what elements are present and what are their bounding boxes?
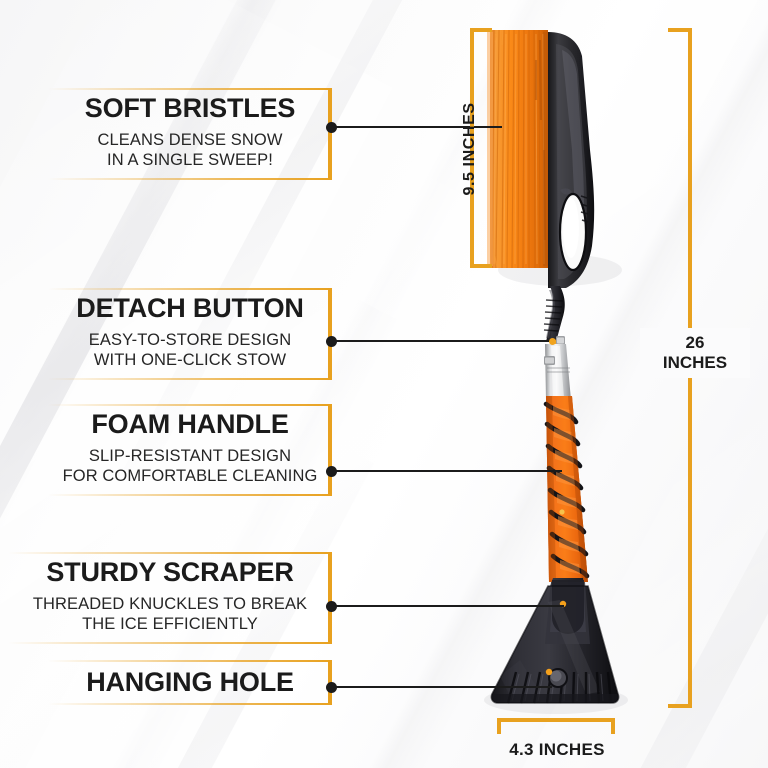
callout-frame-top	[48, 88, 332, 90]
callout-frame-bottom	[48, 378, 332, 380]
callout-subtitle-line: EASY-TO-STORE DESIGN	[62, 330, 318, 350]
callout-title: FOAM HANDLE	[62, 410, 318, 439]
callout-subtitle-line: IN A SINGLE SWEEP!	[62, 150, 318, 170]
callout-frame-bottom	[48, 178, 332, 180]
callout-subtitle-line: THE ICE EFFICIENTLY	[22, 614, 318, 634]
callout-title: HANGING HOLE	[62, 668, 318, 697]
callout-frame-bottom	[48, 703, 332, 705]
dimension-label-total-length-value: 26	[640, 333, 750, 353]
leader-line-detach-button	[334, 340, 550, 342]
background-sheen	[430, 395, 768, 768]
dimension-label-total-length-unit: INCHES	[640, 353, 750, 373]
callout-subtitle-line: WITH ONE-CLICK STOW	[62, 350, 318, 370]
leader-tip-detach-button	[549, 338, 556, 345]
leader-line-hanging-hole	[334, 686, 552, 688]
callout-frame-top	[48, 404, 332, 406]
callout-title: STURDY SCRAPER	[22, 558, 318, 587]
callout-subtitle-line: CLEANS DENSE SNOW	[62, 130, 318, 150]
callout-subtitle-line: FOR COMFORTABLE CLEANING	[62, 466, 318, 486]
callout-frame-top	[48, 660, 332, 662]
callout-hanging-hole: HANGING HOLE	[48, 660, 332, 705]
dimension-label-total-length: 26 INCHES	[640, 328, 750, 378]
callout-frame-right	[328, 88, 332, 180]
callout-subtitle-line: THREADED KNUCKLES TO BREAK	[22, 594, 318, 614]
callout-subtitle: THREADED KNUCKLES TO BREAK THE ICE EFFIC…	[22, 594, 318, 634]
callout-sturdy-scraper: STURDY SCRAPER THREADED KNUCKLES TO BREA…	[8, 552, 332, 644]
dimension-label-brush-head: 9.5 INCHES	[461, 84, 479, 214]
callout-subtitle-line: SLIP-RESISTANT DESIGN	[62, 446, 318, 466]
background-streak	[514, 335, 768, 768]
callout-detach-button: DETACH BUTTON EASY-TO-STORE DESIGN WITH …	[48, 288, 332, 380]
dimension-bracket-scraper-width	[497, 718, 615, 734]
leader-line-sturdy-scraper	[334, 605, 564, 607]
leader-line-foam-handle	[334, 470, 562, 472]
callout-frame-bottom	[8, 642, 332, 644]
callout-title: SOFT BRISTLES	[62, 94, 318, 123]
dimension-label-scraper-width: 4.3 INCHES	[480, 740, 634, 759]
callout-frame-top	[8, 552, 332, 554]
callout-frame-right	[328, 552, 332, 644]
callout-title: DETACH BUTTON	[62, 294, 318, 323]
callout-foam-handle: FOAM HANDLE SLIP-RESISTANT DESIGN FOR CO…	[48, 404, 332, 496]
callout-subtitle: CLEANS DENSE SNOW IN A SINGLE SWEEP!	[62, 130, 318, 170]
callout-frame-right	[328, 288, 332, 380]
callout-soft-bristles: SOFT BRISTLES CLEANS DENSE SNOW IN A SIN…	[48, 88, 332, 180]
callout-subtitle: EASY-TO-STORE DESIGN WITH ONE-CLICK STOW	[62, 330, 318, 370]
callout-frame-bottom	[48, 494, 332, 496]
callout-frame-right	[328, 404, 332, 496]
callout-subtitle: SLIP-RESISTANT DESIGN FOR COMFORTABLE CL…	[62, 446, 318, 486]
infographic-canvas: SOFT BRISTLES CLEANS DENSE SNOW IN A SIN…	[0, 0, 768, 768]
callout-frame-top	[48, 288, 332, 290]
